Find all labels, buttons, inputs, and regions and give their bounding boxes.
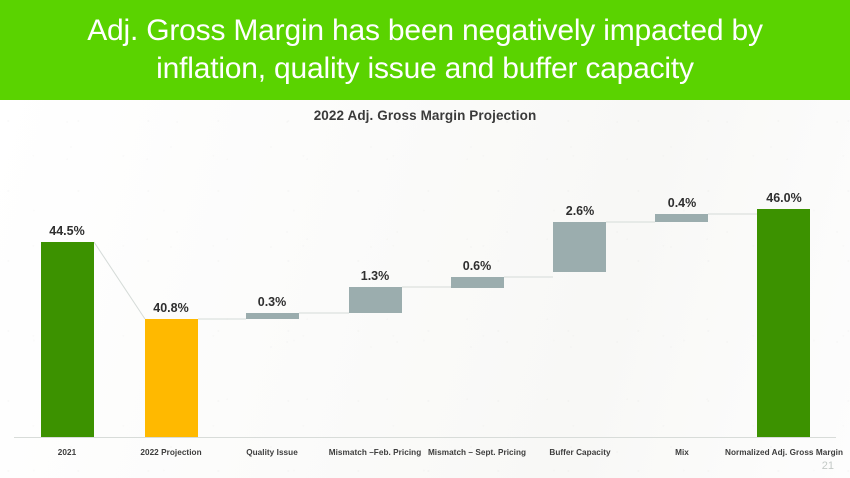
bar-3[interactable] <box>246 313 299 319</box>
bar-value-label-1: 44.5% <box>22 224 112 238</box>
axis-baseline <box>14 437 836 438</box>
page-title-line-1: Adj. Gross Margin has been negatively im… <box>30 12 820 50</box>
category-label-8: Normalized Adj. Gross Margin <box>719 448 849 457</box>
bar-value-label-4: 1.3% <box>330 269 420 283</box>
bar-1[interactable] <box>41 242 94 437</box>
page-number: 21 <box>822 460 834 472</box>
header-banner: Adj. Gross Margin has been negatively im… <box>0 0 850 100</box>
waterfall-plot: 44.5%40.8%0.3%1.3%0.6%2.6%0.4%46.0% 2021… <box>0 100 850 478</box>
bar-value-label-8: 46.0% <box>739 191 829 205</box>
bar-value-label-6: 2.6% <box>535 204 625 218</box>
bar-2[interactable] <box>145 319 198 437</box>
bar-8[interactable] <box>757 209 810 437</box>
bar-value-label-3: 0.3% <box>227 295 317 309</box>
bar-6[interactable] <box>553 222 606 272</box>
page-title: Adj. Gross Margin has been negatively im… <box>30 12 820 88</box>
bar-value-label-7: 0.4% <box>637 196 727 210</box>
bar-7[interactable] <box>655 214 708 222</box>
bar-5[interactable] <box>451 277 504 288</box>
chart-area: 2022 Adj. Gross Margin Projection 44.5%4… <box>0 100 850 478</box>
connector-lines <box>0 100 850 478</box>
page-title-line-2: inflation, quality issue and buffer capa… <box>30 50 820 88</box>
slide-canvas: Adj. Gross Margin has been negatively im… <box>0 0 850 478</box>
bar-value-label-5: 0.6% <box>432 259 522 273</box>
bar-value-label-2: 40.8% <box>126 301 216 315</box>
bar-4[interactable] <box>349 287 402 313</box>
